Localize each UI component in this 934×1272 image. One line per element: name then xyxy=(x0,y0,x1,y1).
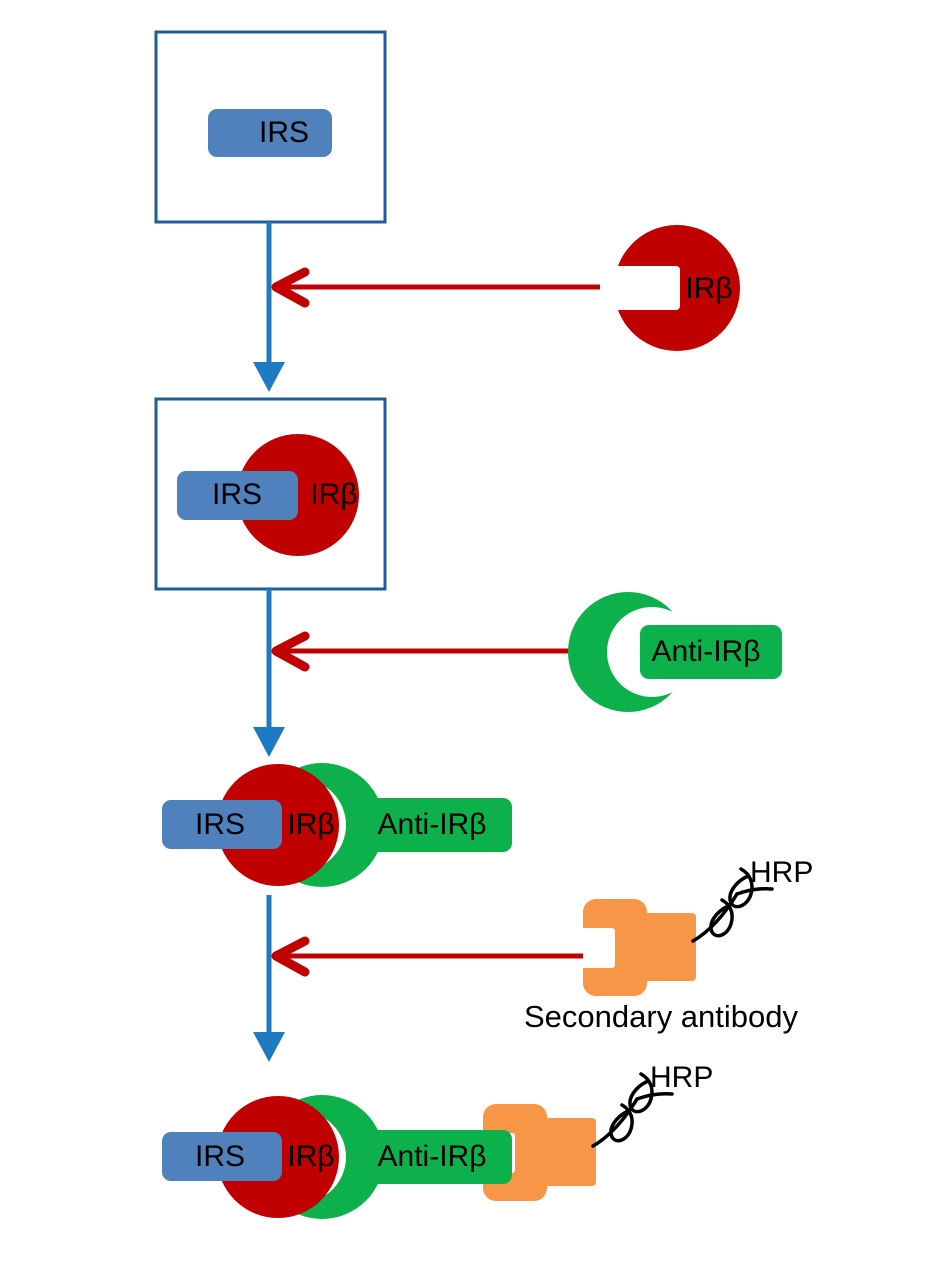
secondary-antibody-body xyxy=(640,913,696,981)
flow-arrow-3 xyxy=(253,895,285,1062)
flow-arrow-2 xyxy=(253,589,285,757)
anti-irb-label-4: Anti-IRβ xyxy=(378,1140,487,1173)
irs-label-1: IRS xyxy=(259,116,309,149)
step-1-well: IRS xyxy=(156,32,385,222)
irb-reagent-label: IRβ xyxy=(685,272,732,305)
irb-label-2: IRβ xyxy=(310,478,357,511)
irs-label-2: IRS xyxy=(212,478,262,511)
reagent-arrow-1 xyxy=(276,272,600,303)
step-2-well: IRS IRβ xyxy=(156,399,385,589)
secondary-antibody-label: Secondary antibody xyxy=(524,999,799,1034)
diagram-canvas: IRS IRβ IRS IRβ xyxy=(0,0,934,1272)
hrp-label-4: HRP xyxy=(650,1061,713,1094)
irs-label-4: IRS xyxy=(195,1140,245,1173)
step-4-complex: HRP IRS IRβ Anti-IRβ xyxy=(162,1061,713,1224)
step-3-complex: IRS IRβ Anti-IRβ xyxy=(162,760,512,892)
irb-label-3: IRβ xyxy=(287,808,334,841)
reagent-arrow-2 xyxy=(276,636,600,667)
secondary-antibody-reagent: HRP Secondary antibody xyxy=(524,856,813,1034)
pathway-diagram: IRS IRβ IRS IRβ xyxy=(0,0,934,1272)
anti-irb-reagent-label: Anti-IRβ xyxy=(652,635,761,668)
irs-label-3: IRS xyxy=(195,808,245,841)
irb-label-4: IRβ xyxy=(287,1140,334,1173)
anti-irb-reagent: Anti-IRβ xyxy=(560,585,782,721)
irb-reagent: IRβ xyxy=(600,220,760,360)
anti-irb-label-3: Anti-IRβ xyxy=(378,808,487,841)
flow-arrow-1 xyxy=(253,222,285,392)
hrp-label-reagent: HRP xyxy=(750,856,813,889)
secondary-antibody-body-4 xyxy=(540,1118,596,1186)
reagent-arrow-3 xyxy=(276,941,583,972)
